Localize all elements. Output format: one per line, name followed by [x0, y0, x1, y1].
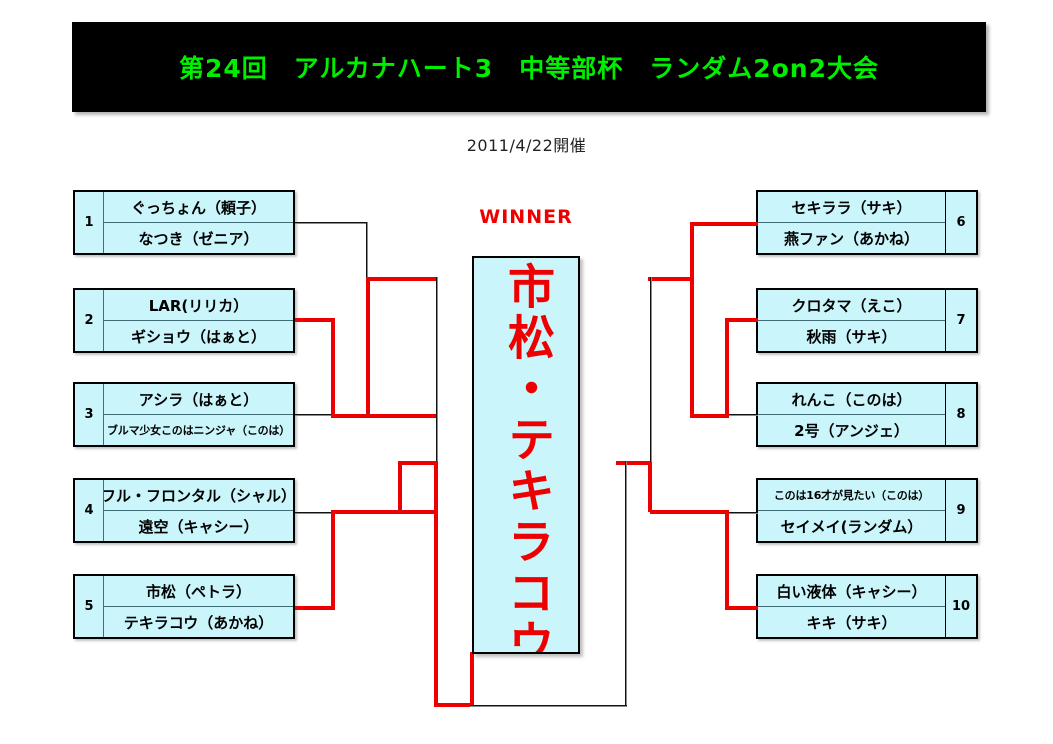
bracket-line-final-right [470, 705, 627, 707]
seed-number: 1 [75, 192, 104, 253]
winner-team-name: 市松・テキラコウ [502, 258, 550, 654]
winner-label: WINNER [472, 206, 580, 228]
player-name: クロタマ（えこ） [758, 290, 945, 321]
bracket-line-r1-upper-r-riser [690, 278, 694, 418]
bracket-line-sf-lower-r [616, 461, 650, 465]
bracket-line-team6-win [690, 222, 758, 226]
bracket-line-r1-lower2-riser [398, 462, 402, 512]
team-box-4[interactable]: 4 フル・フロンタル（シャル） 遠空（キャシー） [73, 478, 295, 543]
player-list: フル・フロンタル（シャル） 遠空（キャシー） [104, 480, 293, 541]
player-name: ブルマ少女このはニンジャ（このは） [104, 415, 293, 445]
bracket-line-team5-win [295, 606, 335, 610]
team-box-10[interactable]: 白い液体（キャシー） キキ（サキ） 10 [756, 574, 978, 639]
player-list: LAR(リリカ） ギショウ（はぁと） [104, 290, 293, 351]
player-name: 2号（アンジェ） [758, 415, 945, 445]
seed-number: 6 [945, 192, 976, 253]
team-box-8[interactable]: れんこ（このは） 2号（アンジェ） 8 [756, 382, 978, 447]
player-name: ぐっちょん（頼子） [104, 192, 293, 223]
bracket-line-team10-riser [725, 512, 729, 610]
player-list: セキララ（サキ） 燕ファン（あかね） [758, 192, 945, 253]
seed-number: 9 [945, 480, 976, 541]
bracket-line-team8 [725, 414, 758, 416]
player-list: 白い液体（キャシー） キキ（サキ） [758, 576, 945, 637]
bracket-line-sf-upper-drop [436, 277, 438, 462]
player-name: セイメイ(ランダム） [758, 511, 945, 541]
player-list: ぐっちょん（頼子） なつき（ゼニア） [104, 192, 293, 253]
player-list: アシラ（はぁと） ブルマ少女このはニンジャ（このは） [104, 384, 293, 445]
tournament-title: 第24回 アルカナハート3 中等部杯 ランダム2on2大会 [72, 22, 986, 112]
bracket-line-team2-win [295, 318, 335, 322]
player-name: 秋雨（サキ） [758, 321, 945, 351]
bracket-line-team2-drop [331, 318, 335, 416]
team-box-9[interactable]: このは16才が見たい（このは） セイメイ(ランダム） 9 [756, 478, 978, 543]
bracket-line-team4 [295, 512, 335, 514]
player-name: キキ（サキ） [758, 607, 945, 637]
player-name: テキラコウ（あかね） [104, 607, 293, 637]
seed-number: 8 [945, 384, 976, 445]
event-date: 2011/4/22開催 [0, 132, 1053, 156]
team-box-1[interactable]: 1 ぐっちょん（頼子） なつき（ゼニア） [73, 190, 295, 255]
player-list: このは16才が見たい（このは） セイメイ(ランダム） [758, 480, 945, 541]
player-name: なつき（ゼニア） [104, 223, 293, 253]
player-list: れんこ（このは） 2号（アンジェ） [758, 384, 945, 445]
team-box-2[interactable]: 2 LAR(リリカ） ギショウ（はぁと） [73, 288, 295, 353]
bracket-line-r1-lower-win [331, 414, 436, 418]
bracket-line-sf-upper-r [648, 277, 692, 281]
player-name: 市松（ペトラ） [104, 576, 293, 607]
bracket-line-r1-lower2-win [331, 510, 436, 514]
bracket-line-r1-lower-r-win [650, 510, 729, 514]
team-box-3[interactable]: 3 アシラ（はぁと） ブルマ少女このはニンジャ（このは） [73, 382, 295, 447]
bracket-line-final-left [434, 703, 474, 707]
seed-number: 7 [945, 290, 976, 351]
team-box-6[interactable]: セキララ（サキ） 燕ファン（あかね） 6 [756, 190, 978, 255]
bracket-line-left-finalist [434, 461, 438, 707]
seed-number: 5 [75, 576, 104, 637]
player-list: 市松（ペトラ） テキラコウ（あかね） [104, 576, 293, 637]
seed-number: 10 [945, 576, 976, 637]
bracket-line-team3 [295, 414, 335, 416]
player-name: 白い液体（キャシー） [758, 576, 945, 607]
player-name: れんこ（このは） [758, 384, 945, 415]
player-name: このは16才が見たい（このは） [758, 480, 945, 511]
seed-number: 4 [75, 480, 104, 541]
bracket-line-team5-riser [331, 512, 335, 610]
player-name: 遠空（キャシー） [104, 511, 293, 541]
bracket-line-sf-upper-r-drop [650, 277, 652, 462]
title-banner: 第24回 アルカナハート3 中等部杯 ランダム2on2大会 [72, 22, 986, 112]
player-name: アシラ（はぁと） [104, 384, 293, 415]
winner-box: 市松・テキラコウ [472, 256, 580, 654]
player-name: ギショウ（はぁと） [104, 321, 293, 351]
player-name: LAR(リリカ） [104, 290, 293, 321]
bracket-line-team6-drop [690, 222, 694, 280]
bracket-line-sf-lower [398, 461, 438, 465]
bracket-line-r1-riser [366, 278, 370, 418]
team-box-7[interactable]: クロタマ（えこ） 秋雨（サキ） 7 [756, 288, 978, 353]
bracket-line-team1 [295, 222, 368, 224]
bracket-line-right-finalist [625, 461, 627, 707]
bracket-line-team1-drop [366, 222, 368, 280]
bracket-line-team7-drop [725, 318, 729, 416]
seed-number: 2 [75, 290, 104, 351]
player-list: クロタマ（えこ） 秋雨（サキ） [758, 290, 945, 351]
bracket-line-team10-win [725, 606, 758, 610]
bracket-line-sf-upper [366, 277, 438, 281]
bracket-line-r1-upper-r-win [690, 414, 729, 418]
seed-number: 3 [75, 384, 104, 445]
player-name: 燕ファン（あかね） [758, 223, 945, 253]
bracket-line-team9 [725, 512, 758, 514]
player-name: フル・フロンタル（シャル） [104, 480, 293, 511]
team-box-5[interactable]: 5 市松（ペトラ） テキラコウ（あかね） [73, 574, 295, 639]
bracket-line-r1-lower-r-riser [648, 462, 652, 512]
player-name: セキララ（サキ） [758, 192, 945, 223]
bracket-line-final-riser [470, 652, 474, 705]
bracket-line-team7-win [725, 318, 758, 322]
